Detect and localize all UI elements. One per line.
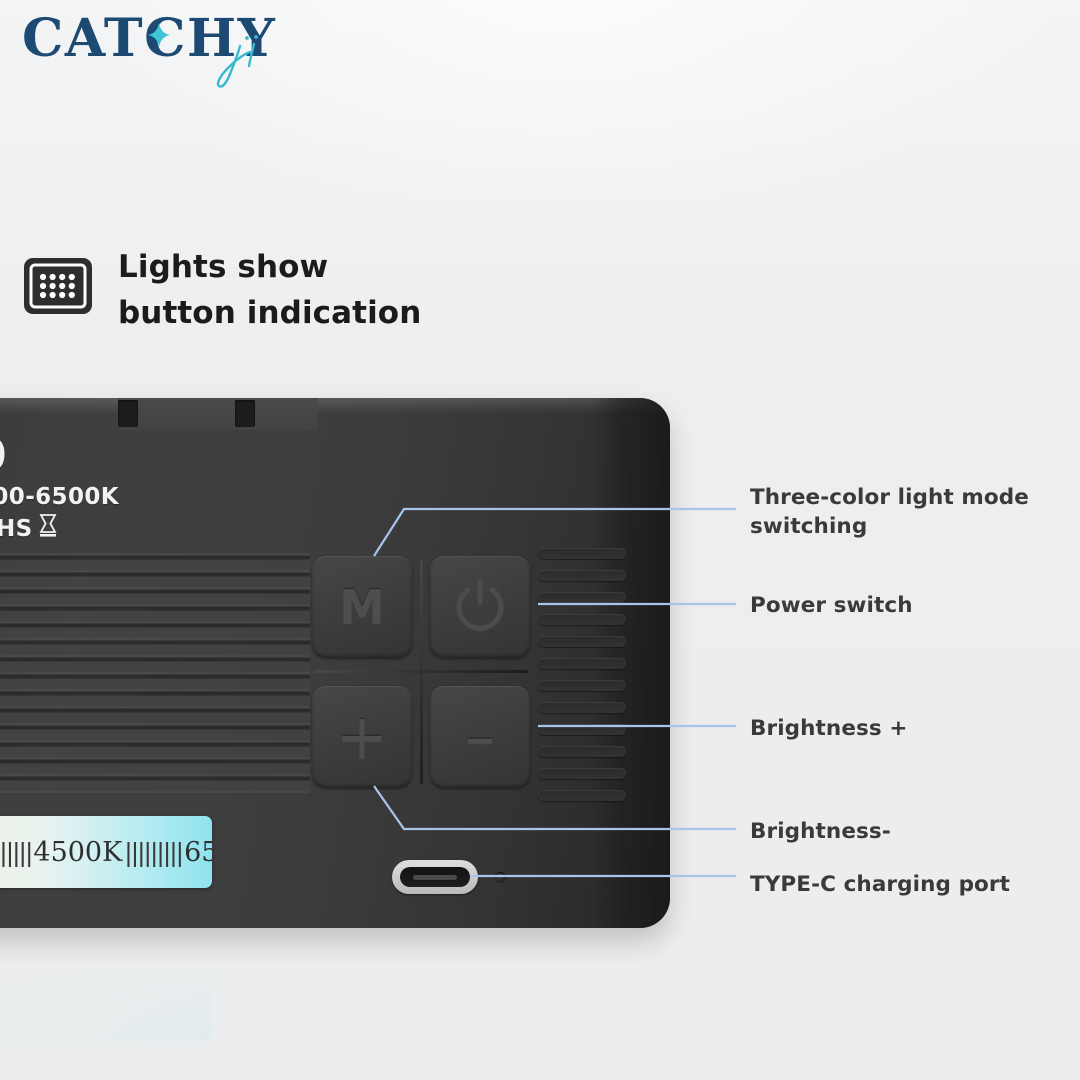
mount-slot-left	[118, 400, 138, 427]
reflection-color-bar	[0, 969, 212, 1041]
temp-ticks-mid: |||||||||	[124, 838, 182, 867]
fin	[538, 768, 626, 779]
fin	[538, 636, 626, 647]
usb-c-tongue	[413, 875, 457, 880]
callout-mode-line1: Three-color light mode	[750, 484, 1029, 513]
temp-value-right: 6500K	[184, 837, 212, 868]
fin	[538, 658, 626, 669]
power-button[interactable]	[430, 556, 530, 658]
mode-m-glyph: M	[339, 584, 385, 630]
charge-indicator-led	[495, 872, 506, 883]
mount-slot-right	[235, 400, 255, 427]
fin	[538, 548, 626, 559]
section-heading: Lights show button indication	[22, 245, 421, 337]
kelvin-range: 700-6500K	[0, 482, 119, 512]
device-body: 0 700-6500K OHS	[0, 398, 670, 928]
callout-label-power: Power switch	[750, 592, 913, 621]
plus-glyph: +	[336, 706, 388, 768]
control-button-grid: M + –	[312, 556, 530, 788]
usb-c-cavity	[400, 867, 470, 887]
fin	[538, 680, 626, 691]
model-number: 0	[0, 436, 119, 476]
fin	[538, 746, 626, 757]
brightness-down-button[interactable]: –	[430, 686, 530, 788]
heatsink-fins-left	[0, 553, 310, 793]
fin	[538, 614, 626, 625]
brightness-up-button[interactable]: +	[312, 686, 412, 788]
usb-c-port[interactable]	[392, 860, 478, 894]
mode-button[interactable]: M	[312, 556, 412, 658]
reflection-usb-c	[392, 959, 482, 997]
color-temperature-bar: |||||||| 4500K ||||||||| 6500K	[0, 816, 212, 888]
minus-glyph: –	[465, 706, 496, 768]
fin	[538, 702, 626, 713]
device-reflection	[0, 933, 670, 1080]
fin	[538, 570, 626, 581]
heading-line-2: button indication	[118, 291, 421, 337]
callout-label-brightness-down: Brightness-	[750, 818, 891, 847]
infographic-canvas: CATCHY	[0, 0, 1080, 1080]
body-top-sheen	[0, 398, 670, 414]
temp-value-mid: 4500K	[33, 837, 122, 868]
fin	[538, 790, 626, 801]
heading-line-1: Lights show	[118, 245, 421, 291]
led-panel-icon	[22, 255, 94, 317]
heatsink-fins-right	[538, 548, 630, 798]
rohs-text: OHS	[0, 515, 33, 543]
led-light-panel-device: 0 700-6500K OHS	[0, 398, 670, 928]
fin	[538, 592, 626, 603]
brand-logo: CATCHY	[18, 6, 318, 92]
certification-line: OHS	[0, 512, 119, 545]
fin	[538, 724, 626, 735]
callout-label-typec: TYPE-C charging port	[750, 871, 1010, 900]
temp-ticks-left: ||||||||	[0, 838, 31, 867]
crossed-out-bin-icon	[37, 512, 59, 545]
callout-label-mode: Three-color light mode switching	[750, 484, 1029, 541]
callout-label-brightness-up: Brightness +	[750, 715, 908, 744]
mount-notch	[118, 398, 318, 430]
power-icon	[453, 577, 507, 637]
button-divider-horizontal	[314, 670, 528, 673]
callout-mode-line2: switching	[750, 513, 1029, 542]
printed-spec-text: 0 700-6500K OHS	[0, 436, 119, 545]
